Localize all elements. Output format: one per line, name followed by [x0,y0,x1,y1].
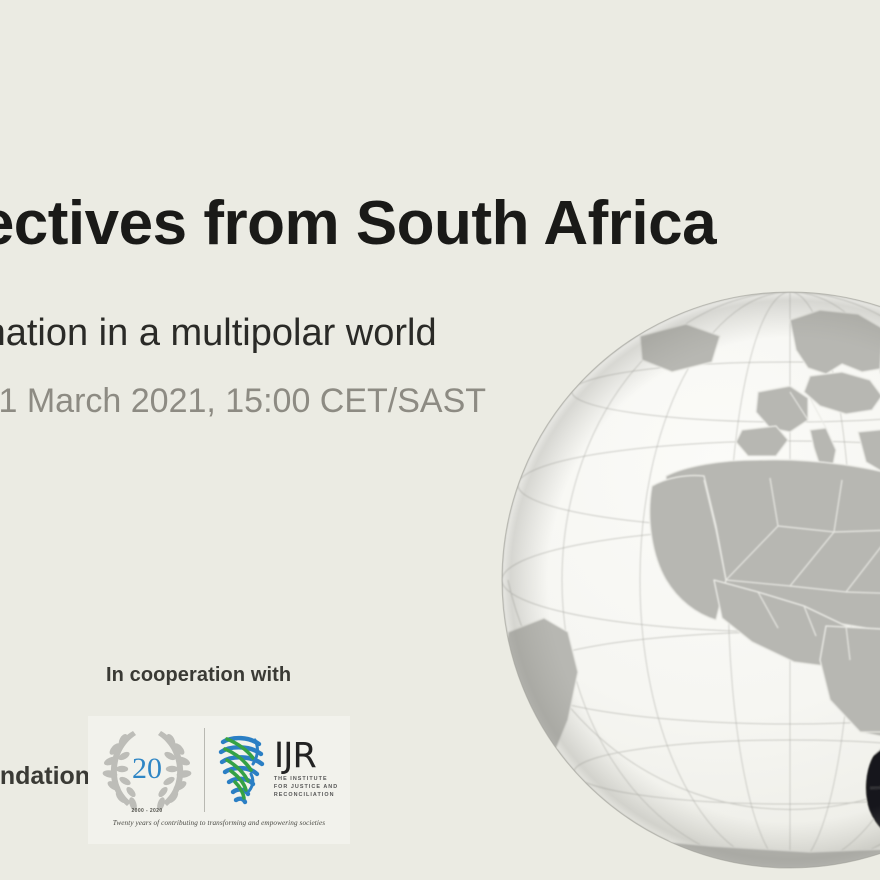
ijr-institute-logo: IJR THE INSTITUTE FOR JUSTICE AND RECONC… [215,730,338,810]
south-africa-highlight [867,736,880,842]
ijr-20-years-wreath-logo: 20 2000 - 2020 [100,722,194,818]
world-globe-africa [490,280,880,880]
svg-text:2000 - 2020: 2000 - 2020 [131,808,162,814]
ijr-wordmark: IJR [274,741,338,773]
cooperation-label: In cooperation with [106,664,291,687]
partner-logo-row: 20 2000 - 2020 [88,722,350,818]
wreath-tagline: Twenty years of contributing to transfor… [113,819,325,827]
ijr-subtitle-line-3: RECONCILIATION [274,791,338,799]
promo-banner: Perspectives from South Africa Transform… [0,0,880,880]
page-title: Perspectives from South Africa [0,193,810,255]
ijr-subtitle-line-1: THE INSTITUTE [274,775,338,783]
logo-divider [204,728,205,812]
partner-logo-box: 20 2000 - 2020 [88,716,350,844]
ijr-wordmark-block: IJR THE INSTITUTE FOR JUSTICE AND RECONC… [274,741,338,799]
wreath-numeral: 20 [132,752,162,785]
page-subtitle: Transformation in a multipolar world [0,314,834,352]
ijr-africa-ribbon-icon [215,730,269,810]
event-datetime: Thursday, 11 March 2021, 15:00 CET/SAST [0,384,824,418]
ijr-subtitle-line-2: FOR JUSTICE AND [274,783,338,791]
foundation-wordmark: Foundation [0,762,90,791]
ijr-subtitle: THE INSTITUTE FOR JUSTICE AND RECONCILIA… [274,775,338,799]
